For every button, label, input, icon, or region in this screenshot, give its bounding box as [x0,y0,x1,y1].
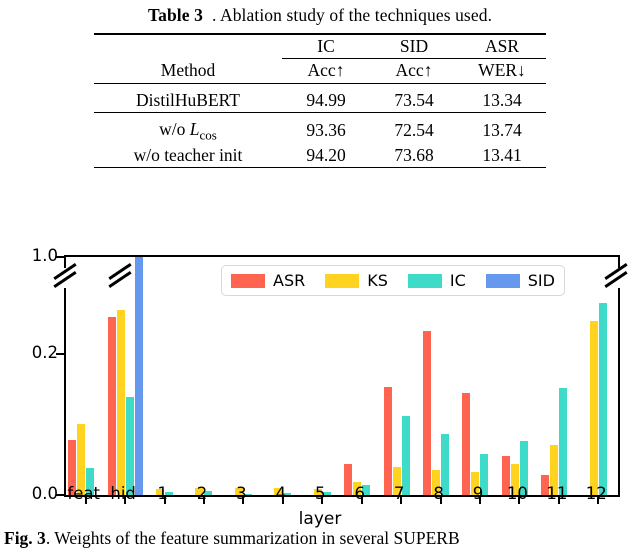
legend-swatch-ASR [231,274,265,288]
row-asr: 13.34 [458,89,546,113]
group-header-spacer [94,34,282,58]
bar-KS-12 [590,321,598,495]
x-tick-label-3: 3 [219,484,263,503]
ablation-table: IC SID ASR Method Acc↑ Acc↑ WER↓ DistilH… [94,33,546,168]
bar-KS-hid [117,310,125,495]
table-caption-text: . Ablation study of the techniques used. [212,5,492,25]
legend-item-SID: SID [486,271,555,290]
bar-IC-12 [599,303,607,495]
group-header-sid: SID [370,34,458,58]
row-method-prefix: w/o [159,119,190,139]
figure-caption-text: . Weights of the feature summarization i… [46,528,460,548]
row-method-subscript: cos [200,127,217,142]
group-header-ic: IC [282,34,370,58]
legend-label-ASR: ASR [273,271,305,290]
metric-header-ic: Acc↑ [282,59,370,83]
bar-group-1 [145,257,184,495]
y-tick-label-0.2: 0.2 [4,343,58,362]
table-caption-label: Table 3 [148,5,203,25]
row-asr: 13.74 [458,118,546,144]
table-row: w/o Lcos 93.36 72.54 13.74 [94,118,546,144]
y-tick-label-1.0: 1.0 [4,246,58,265]
legend-swatch-KS [325,274,359,288]
bar-ASR-9 [462,393,470,495]
row-ic: 94.20 [282,144,370,168]
x-tick-label-4: 4 [259,484,303,503]
row-sid: 73.54 [370,89,458,113]
y-tick-label-0.0: 0.0 [4,484,58,503]
row-sid: 72.54 [370,118,458,144]
x-tick-label-9: 9 [456,484,500,503]
x-tick-label-8: 8 [417,484,461,503]
legend-item-IC: IC [408,271,466,290]
bar-ASR-8 [423,331,431,495]
method-header: Method [94,59,282,83]
row-ic: 94.99 [282,89,370,113]
row-method: DistilHuBERT [94,89,282,113]
figure-caption: Fig. 3. Weights of the feature summariza… [0,528,640,549]
x-tick-label-12: 12 [574,484,618,503]
table-metric-header-row: Method Acc↑ Acc↑ WER↓ [94,59,546,83]
x-tick-label-11: 11 [535,484,579,503]
x-tick-label-1: 1 [141,484,185,503]
table-caption: Table 3. Ablation study of the technique… [0,0,640,26]
x-tick-label-6: 6 [338,484,382,503]
row-method: w/o Lcos [94,118,282,144]
bar-group-feat [66,257,105,495]
x-tick-label-10: 10 [495,484,539,503]
metric-header-asr: WER↓ [458,59,546,83]
legend-swatch-SID [486,274,520,288]
table-row: DistilHuBERT 94.99 73.54 13.34 [94,89,546,113]
x-tick-label-2: 2 [180,484,224,503]
row-ic: 93.36 [282,118,370,144]
row-asr: 13.41 [458,144,546,168]
legend-label-KS: KS [367,271,388,290]
row-method: w/o teacher init [94,144,282,168]
bar-IC-11 [559,388,567,495]
row-sid: 73.68 [370,144,458,168]
table-group-header-row: IC SID ASR [94,34,546,58]
bar-ASR-7 [384,387,392,495]
figure-caption-label: Fig. 3 [4,528,46,548]
bar-group-hid [105,257,144,495]
legend-item-ASR: ASR [231,271,305,290]
table-row: w/o teacher init 94.20 73.68 13.41 [94,144,546,168]
legend-label-IC: IC [450,271,466,290]
bar-IC-hid [126,397,134,495]
x-tick-label-5: 5 [298,484,342,503]
metric-header-sid: Acc↑ [370,59,458,83]
x-tick-label-hid: hid [101,484,145,503]
group-header-asr: ASR [458,34,546,58]
bar-chart-plot: ASRKSICSID [64,255,620,497]
bar-group-2 [184,257,223,495]
legend-label-SID: SID [528,271,555,290]
bar-group-12 [579,257,618,495]
chart-legend: ASRKSICSID [221,265,565,296]
x-tick-label-feat: feat [62,484,106,503]
row-method-math: L [190,119,200,139]
legend-item-KS: KS [325,271,388,290]
x-tick-label-7: 7 [377,484,421,503]
bar-SID-hid [135,257,143,495]
x-axis-title: layer [0,509,640,529]
figure-section: ASRKSICSID feathid123456789101112 layer … [0,232,640,543]
bar-ASR-hid [108,317,116,495]
table-section: Table 3. Ablation study of the technique… [0,0,640,232]
legend-swatch-IC [408,274,442,288]
